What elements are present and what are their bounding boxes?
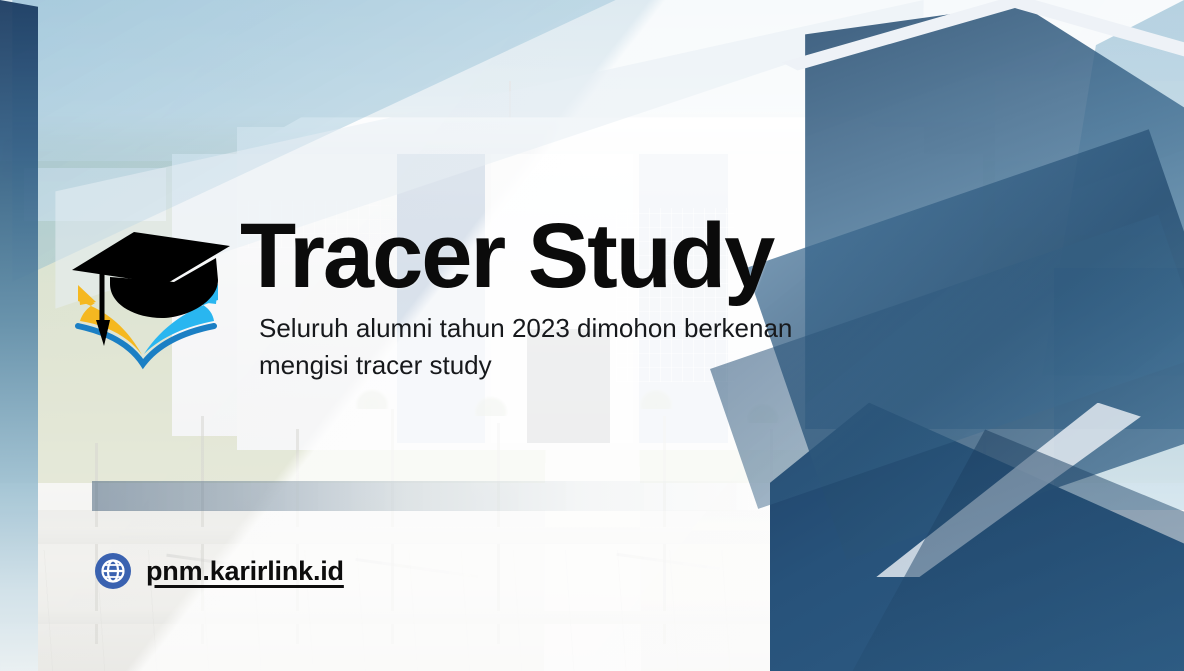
banner-content: Tracer Study Seluruh alumni tahun 2023 d…	[0, 0, 1184, 671]
graduation-cap-book-logo-icon	[66, 222, 236, 382]
tracer-study-banner: Tracer Study Seluruh alumni tahun 2023 d…	[0, 0, 1184, 671]
page-subtitle: Seluruh alumni tahun 2023 dimohon berken…	[259, 310, 859, 384]
globe-icon	[94, 552, 132, 590]
website-url-text[interactable]: pnm.karirlink.id	[146, 556, 344, 587]
website-link[interactable]: pnm.karirlink.id	[94, 552, 344, 590]
page-title: Tracer Study	[240, 210, 773, 302]
